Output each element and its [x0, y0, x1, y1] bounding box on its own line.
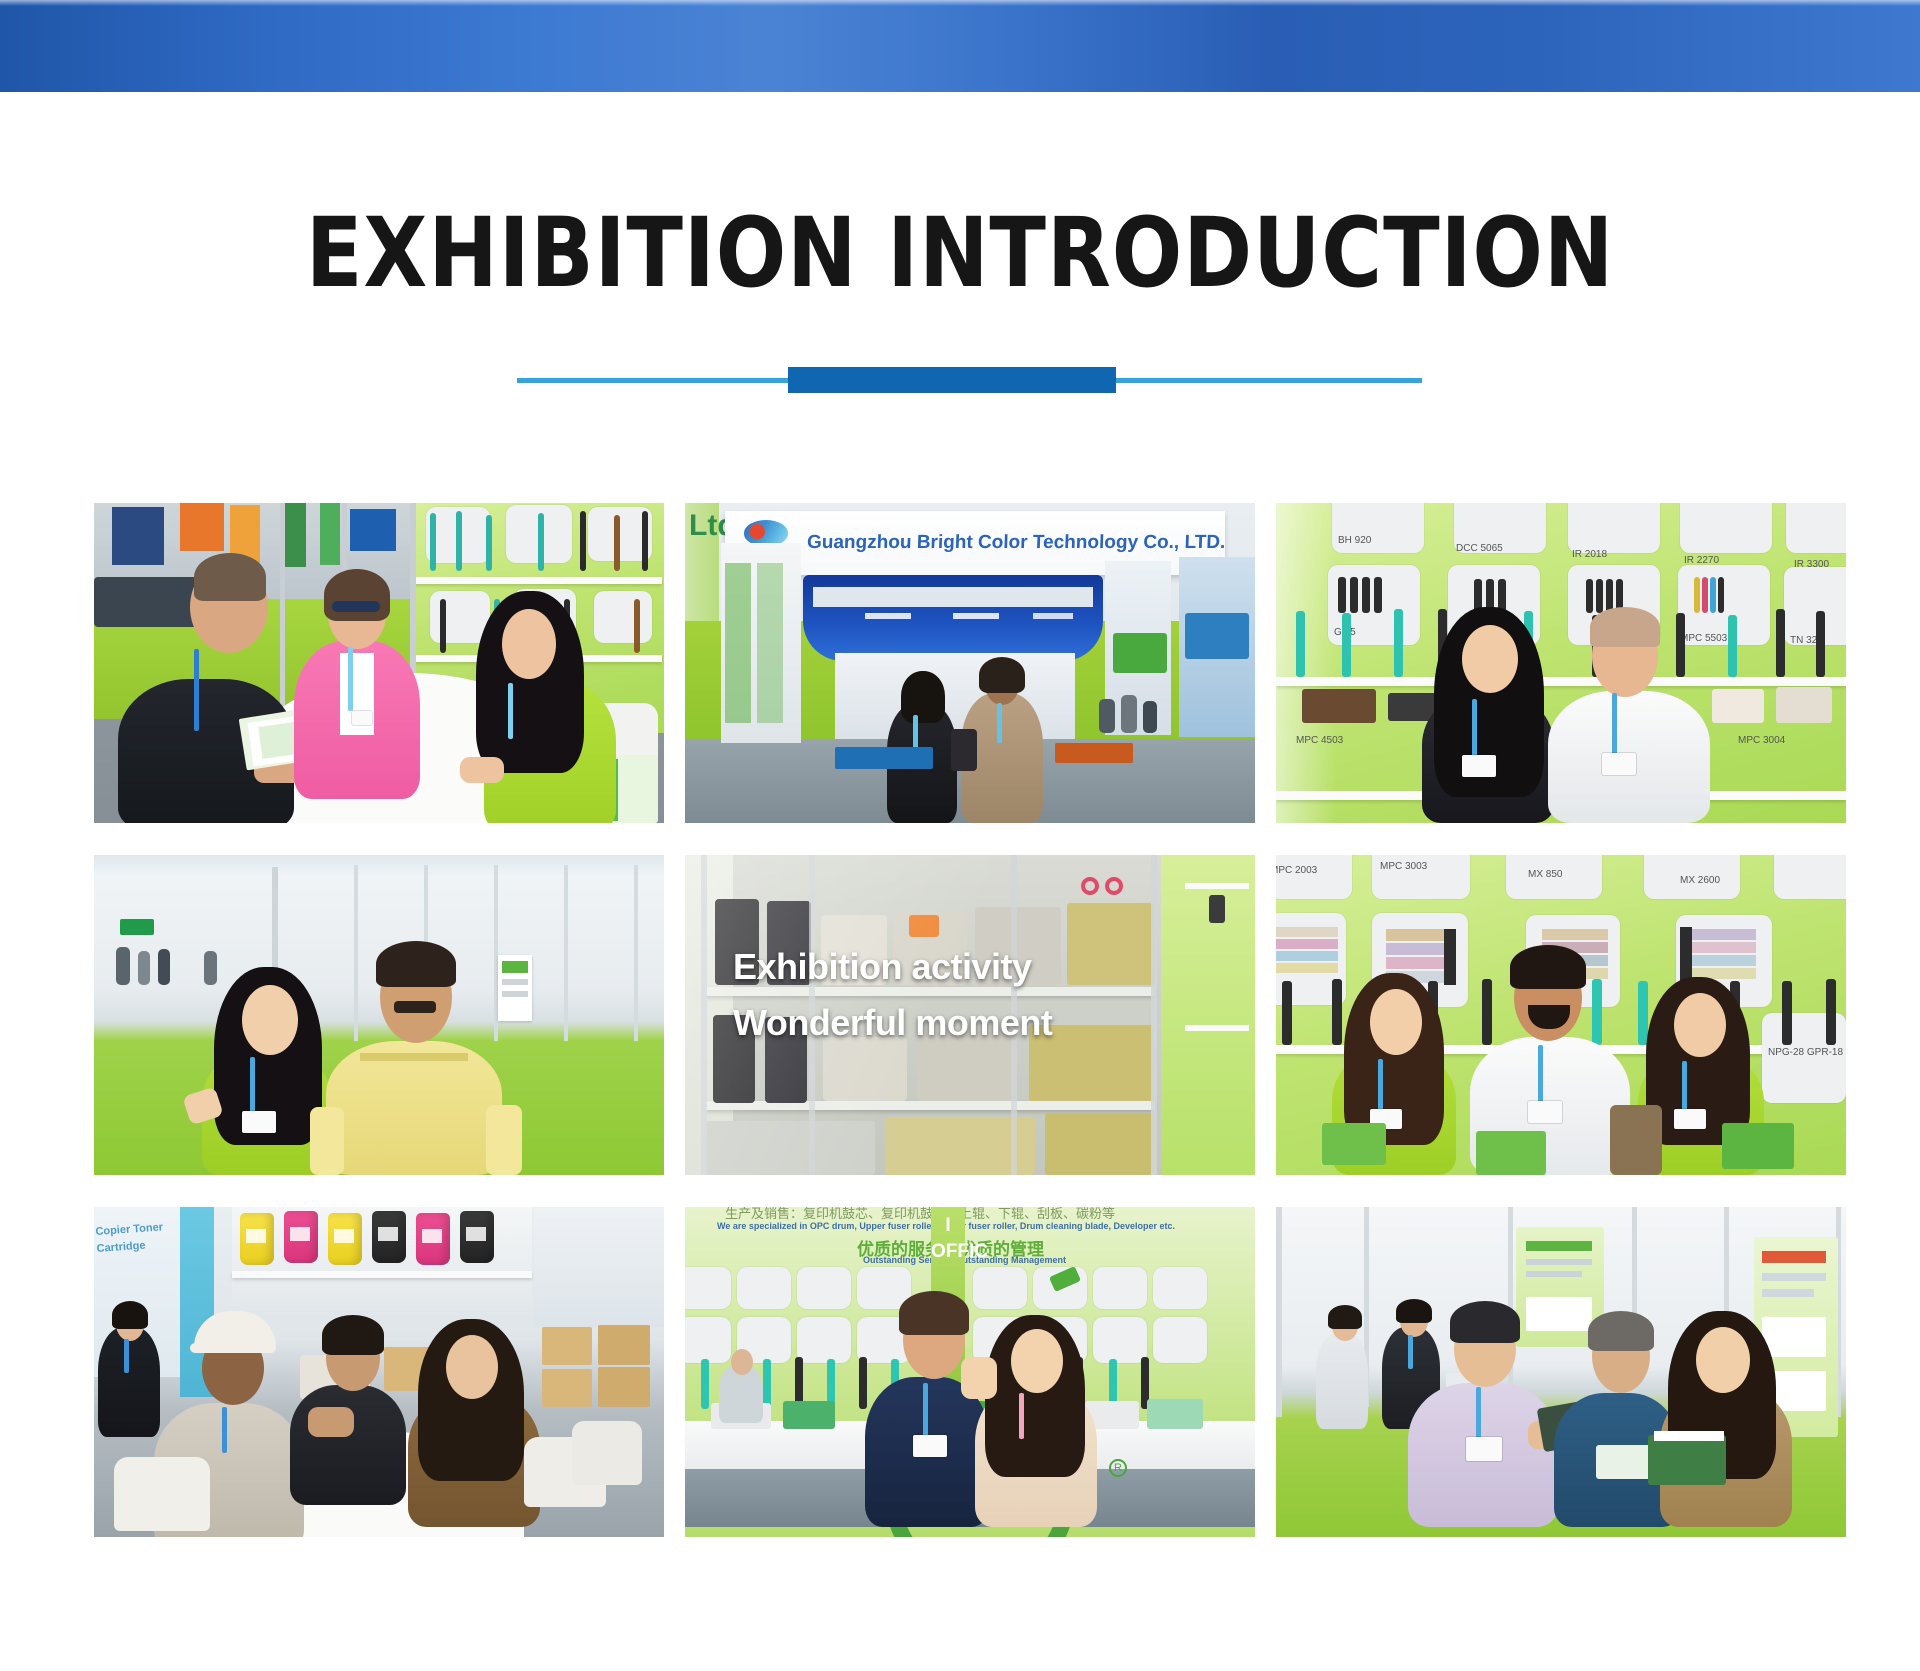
gallery-photo-7[interactable]: Copier Toner Cartridge YC [94, 1207, 664, 1537]
photo3-label-bh920: BH 920 [1338, 535, 1371, 546]
photo3-label-dcc5065: DCC 5065 [1456, 543, 1503, 554]
photo6-label-mx2600: MX 2600 [1680, 875, 1720, 886]
top-blue-banner [0, 0, 1920, 92]
gallery-photo-1[interactable] [94, 503, 664, 823]
gallery-photo-2[interactable]: Ltd BRIGHT COLOR Guangzhou Bright Color … [685, 503, 1255, 823]
gallery-photo-9[interactable] [1276, 1207, 1846, 1537]
overlay-line-2: Wonderful moment [733, 995, 1203, 1051]
photo6-label-mx850: MX 850 [1528, 869, 1562, 880]
photo6-label-npg: NPG-28 GPR-18 EXV-14 [1768, 1047, 1846, 1060]
title-divider-block [788, 367, 1116, 393]
photo3-label-mpc4503: MPC 4503 [1296, 735, 1343, 746]
photo7-sign-text: Copier Toner Cartridge [95, 1218, 183, 1257]
page-title: EXHIBITION INTRODUCTION [38, 205, 1881, 301]
photo3-label-mpc3004: MPC 3004 [1738, 735, 1785, 746]
photo6-label-mpc3003: MPC 3003 [1380, 861, 1427, 872]
photo3-label-mpc5503: MPC 5503 [1680, 633, 1727, 644]
gallery-photo-3[interactable]: BH 920 DCC 5065 IR 2018 IR 2270 IR 3300 … [1276, 503, 1846, 823]
page-header: EXHIBITION INTRODUCTION [0, 205, 1920, 301]
photo5-overlay-text: Exhibition activity Wonderful moment [733, 939, 1203, 1051]
photo8-sign-cn-top: 生产及销售：复印机鼓芯、复印机鼓芯、上辊、下辊、刮板、碳粉等 [725, 1207, 1115, 1222]
photo6-label-mpc2003: MPC 2003 [1276, 865, 1317, 876]
overlay-line-1: Exhibition activity [733, 939, 1203, 995]
gallery-photo-5[interactable]: Exhibition activity Wonderful moment [685, 855, 1255, 1175]
photo3-label-ir2018: IR 2018 [1572, 549, 1607, 560]
gallery-photo-8[interactable]: 生产及销售：复印机鼓芯、复印机鼓芯、上辊、下辊、刮板、碳粉等 We are sp… [685, 1207, 1255, 1537]
photo-gallery-grid: Ltd BRIGHT COLOR Guangzhou Bright Color … [94, 503, 1826, 1537]
gallery-photo-4[interactable] [94, 855, 664, 1175]
gallery-photo-6[interactable]: MPC 2003 MPC 3003 MX 850 MX 2600 TN 328 … [1276, 855, 1846, 1175]
photo2-company-name: Guangzhou Bright Color Technology Co., L… [806, 532, 1225, 554]
